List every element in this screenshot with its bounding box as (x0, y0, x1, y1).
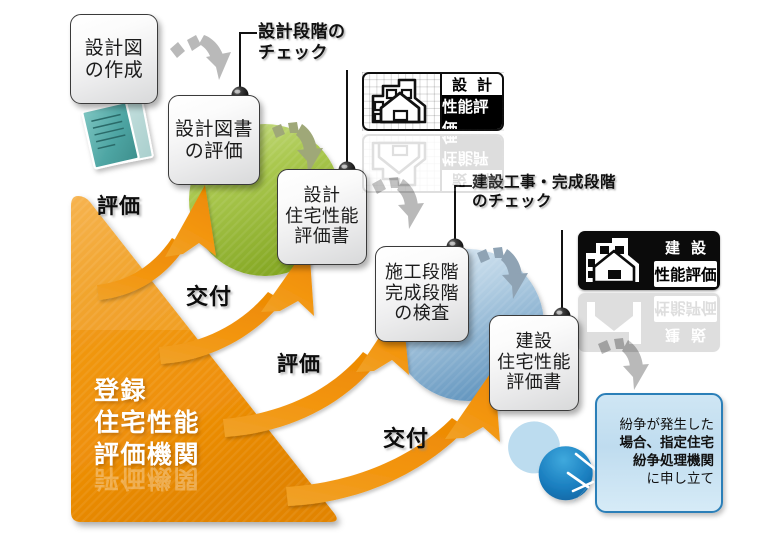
box-design-doc-eval-line-0: 設計図書 (175, 118, 253, 140)
leader-design-stage-check (232, 33, 258, 104)
callout-design-stage-check: 設計段階の チェック (258, 22, 346, 63)
callout-construction-stage-check-line-1: のチェック (472, 192, 616, 211)
callout-construction-stage-check-line-0: 建設工事・完成段階 (472, 173, 616, 192)
box-design-report-line-2: 評価書 (285, 227, 359, 248)
badge-design-performance-evaluation: 設 計 性能評価 (362, 72, 504, 131)
box-construction-inspection-line-1: 完成段階 (385, 284, 459, 305)
box-design-document-evaluation[interactable]: 設計図書 の評価 (168, 95, 260, 185)
box-design-drawing[interactable]: 設計図 の作成 (70, 14, 158, 104)
dispute-resolution-note[interactable]: 紛争が発生した 場合、指定住宅 紛争処理機関 に申し立て (595, 393, 723, 513)
callout-design-stage-check-line-0: 設計段階の (258, 22, 346, 43)
box-construction-inspection[interactable]: 施工段階 完成段階 の検査 (375, 246, 469, 342)
dispute-bubbles-icon (508, 421, 602, 520)
badge-construction-top-char-1: 建 (665, 237, 680, 258)
box-construction-inspection-line-2: の検査 (385, 304, 459, 325)
badge-design-top-char-2: 計 (477, 74, 492, 95)
box-construction-inspection-line-0: 施工段階 (385, 263, 459, 284)
box-design-doc-eval-line-1: の評価 (175, 140, 253, 162)
badge-design-text: 設 計 性能評価 (440, 74, 502, 129)
gray-arrow-step-3 (372, 177, 424, 229)
badge-construction-performance-evaluation: 建 設 性能評価 (578, 231, 720, 290)
diagram-canvas: 設計図 の作成 設計図書 の評価 設計 住宅性能 評価書 施工段階 完成段階 の… (0, 0, 770, 538)
box-construction-report-line-2: 評価書 (497, 373, 571, 394)
box-design-report-line-1: 住宅性能 (285, 207, 359, 228)
badge-design-bottom-text: 性能評価 (442, 95, 502, 131)
flow-label-evaluation-1: 評価 (97, 190, 141, 220)
box-design-performance-report[interactable]: 設計 住宅性能 評価書 (277, 169, 367, 265)
flow-label-evaluation-2: 評価 (277, 348, 321, 378)
box-design-report-line-0: 設計 (285, 186, 359, 207)
gray-arrow-step-1 (170, 35, 231, 80)
flow-label-issue-1: 交付 (186, 279, 232, 311)
documents-icon (82, 100, 153, 169)
box-design-drawing-line-0: 設計図 (85, 37, 144, 59)
dispute-note-line-2: 紛争処理機関 (620, 453, 715, 471)
leader-construction-report (554, 230, 571, 325)
badge-construction-top-char-2: 設 (691, 237, 706, 258)
badge-construction-top-text: 建 設 (654, 234, 717, 261)
house-icon (364, 74, 440, 129)
box-construction-report-line-0: 建設 (497, 332, 571, 353)
badge-construction-text: 建 設 性能評価 (654, 231, 720, 290)
gray-arrow-step-5 (598, 338, 649, 390)
house-icon-inverted (578, 231, 654, 290)
callout-construction-stage-check: 建設工事・完成段階 のチェック (472, 173, 616, 211)
badge-construction-bottom-text: 性能評価 (654, 261, 717, 288)
box-design-drawing-line-1: の作成 (85, 59, 144, 81)
dispute-note-line-3: に申し立て (620, 471, 715, 489)
box-construction-report-line-1: 住宅性能 (497, 353, 571, 374)
leader-design-report (339, 70, 356, 179)
badge-design-top-char-1: 設 (452, 74, 467, 95)
box-construction-performance-report[interactable]: 建設 住宅性能 評価書 (489, 315, 579, 411)
dispute-note-line-1: 場合、指定住宅 (620, 435, 715, 453)
flow-label-issue-2: 交付 (383, 421, 429, 453)
dispute-note-line-0: 紛争が発生した (620, 417, 715, 435)
badge-design-top-text: 設 計 (442, 74, 502, 95)
callout-design-stage-check-line-1: チェック (258, 43, 346, 64)
